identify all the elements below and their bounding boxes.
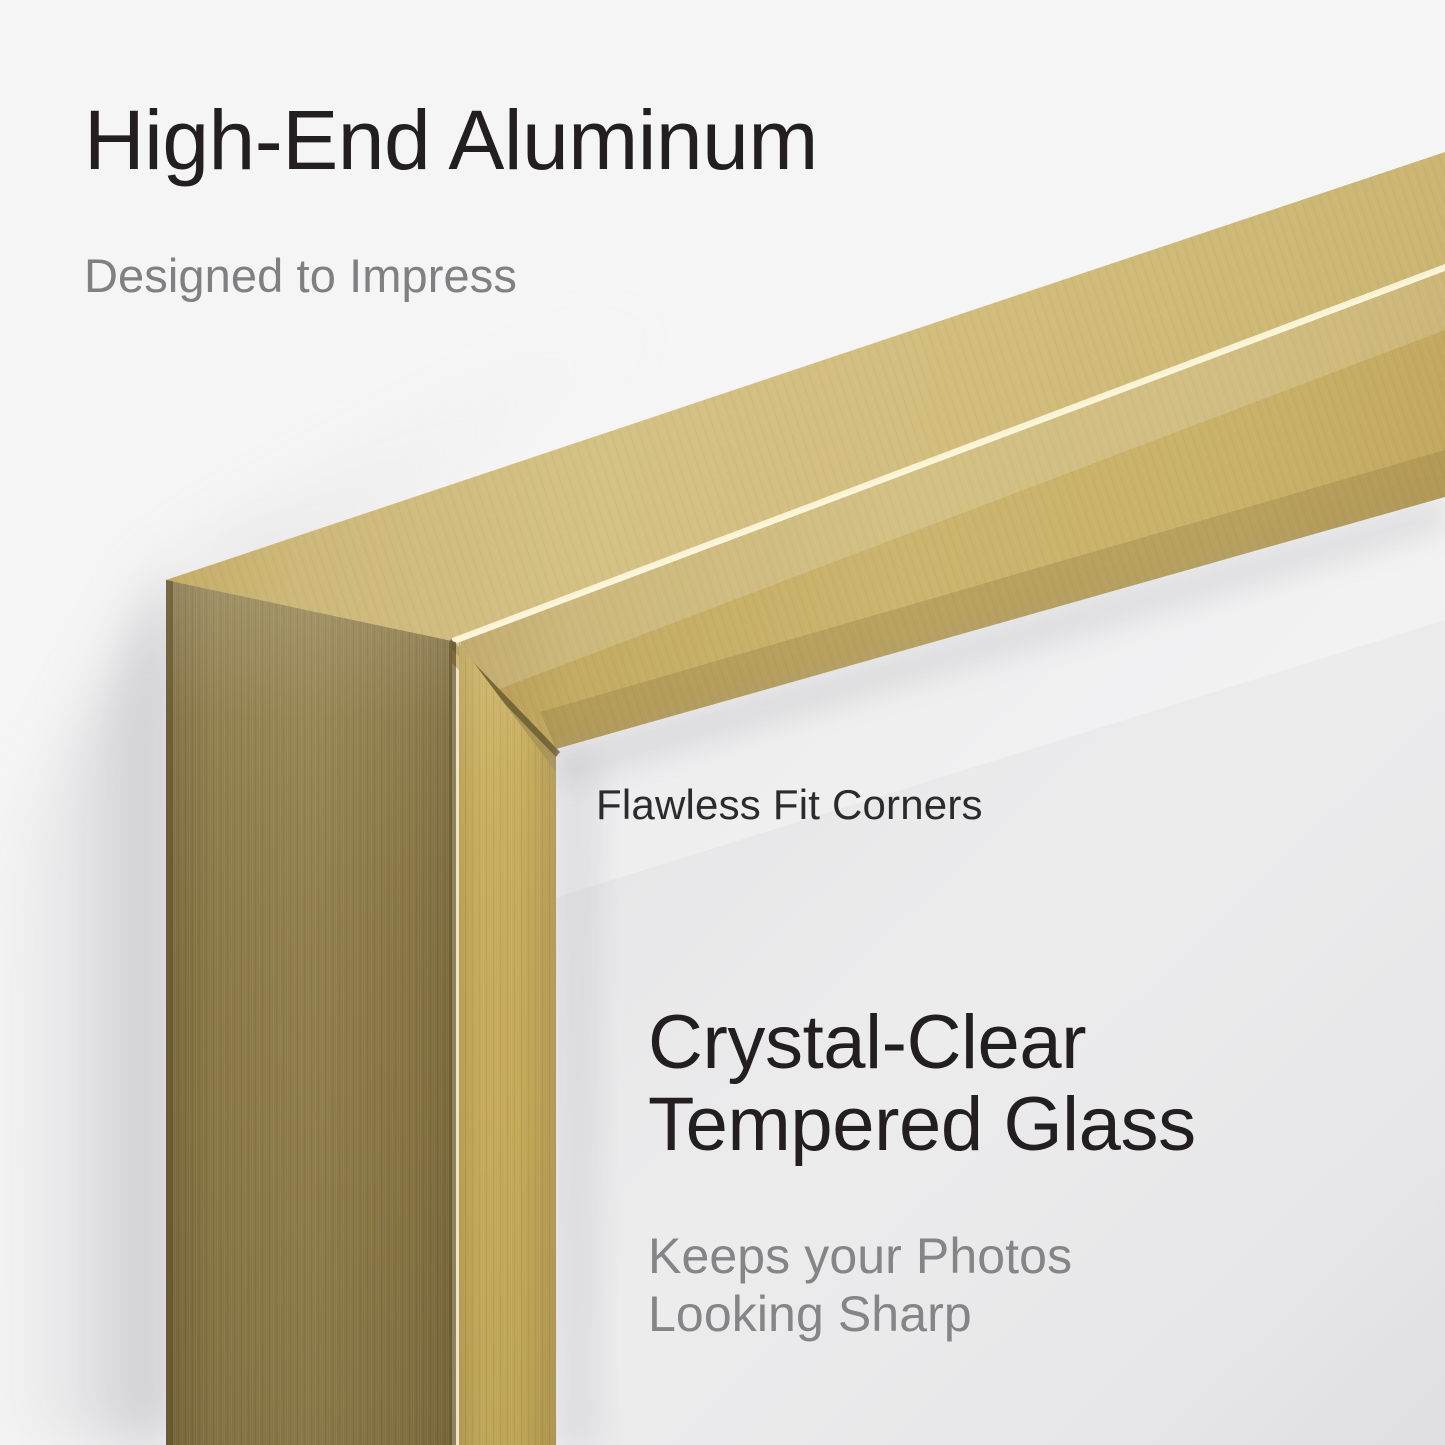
frame-outer-edge	[166, 580, 173, 1445]
glass-callout-subtitle-line-2: Looking Sharp	[648, 1286, 972, 1342]
glass-left-shadow	[556, 749, 600, 1445]
page-subtitle: Designed to Impress	[84, 252, 818, 299]
glass-callout-title-line-1: Crystal-Clear	[648, 1000, 1086, 1085]
glass-callout-title-line-2: Tempered Glass	[648, 1082, 1196, 1167]
page-title: High-End Aluminum	[84, 98, 818, 182]
glass-callout-subtitle-line-1: Keeps your Photos	[648, 1228, 1072, 1284]
corner-callout-label: Flawless Fit Corners	[596, 781, 983, 829]
glass-callout-title: Crystal-ClearTempered Glass	[648, 1002, 1196, 1166]
glass-callout-block: Crystal-ClearTempered Glass Keeps your P…	[648, 966, 1196, 1379]
headline-block: High-End Aluminum Designed to Impress	[84, 62, 818, 335]
frame-left-arris	[449, 641, 456, 1445]
product-feature-image: High-End Aluminum Designed to Impress Fl…	[0, 0, 1445, 1445]
glass-callout-subtitle: Keeps your PhotosLooking Sharp	[648, 1228, 1196, 1343]
